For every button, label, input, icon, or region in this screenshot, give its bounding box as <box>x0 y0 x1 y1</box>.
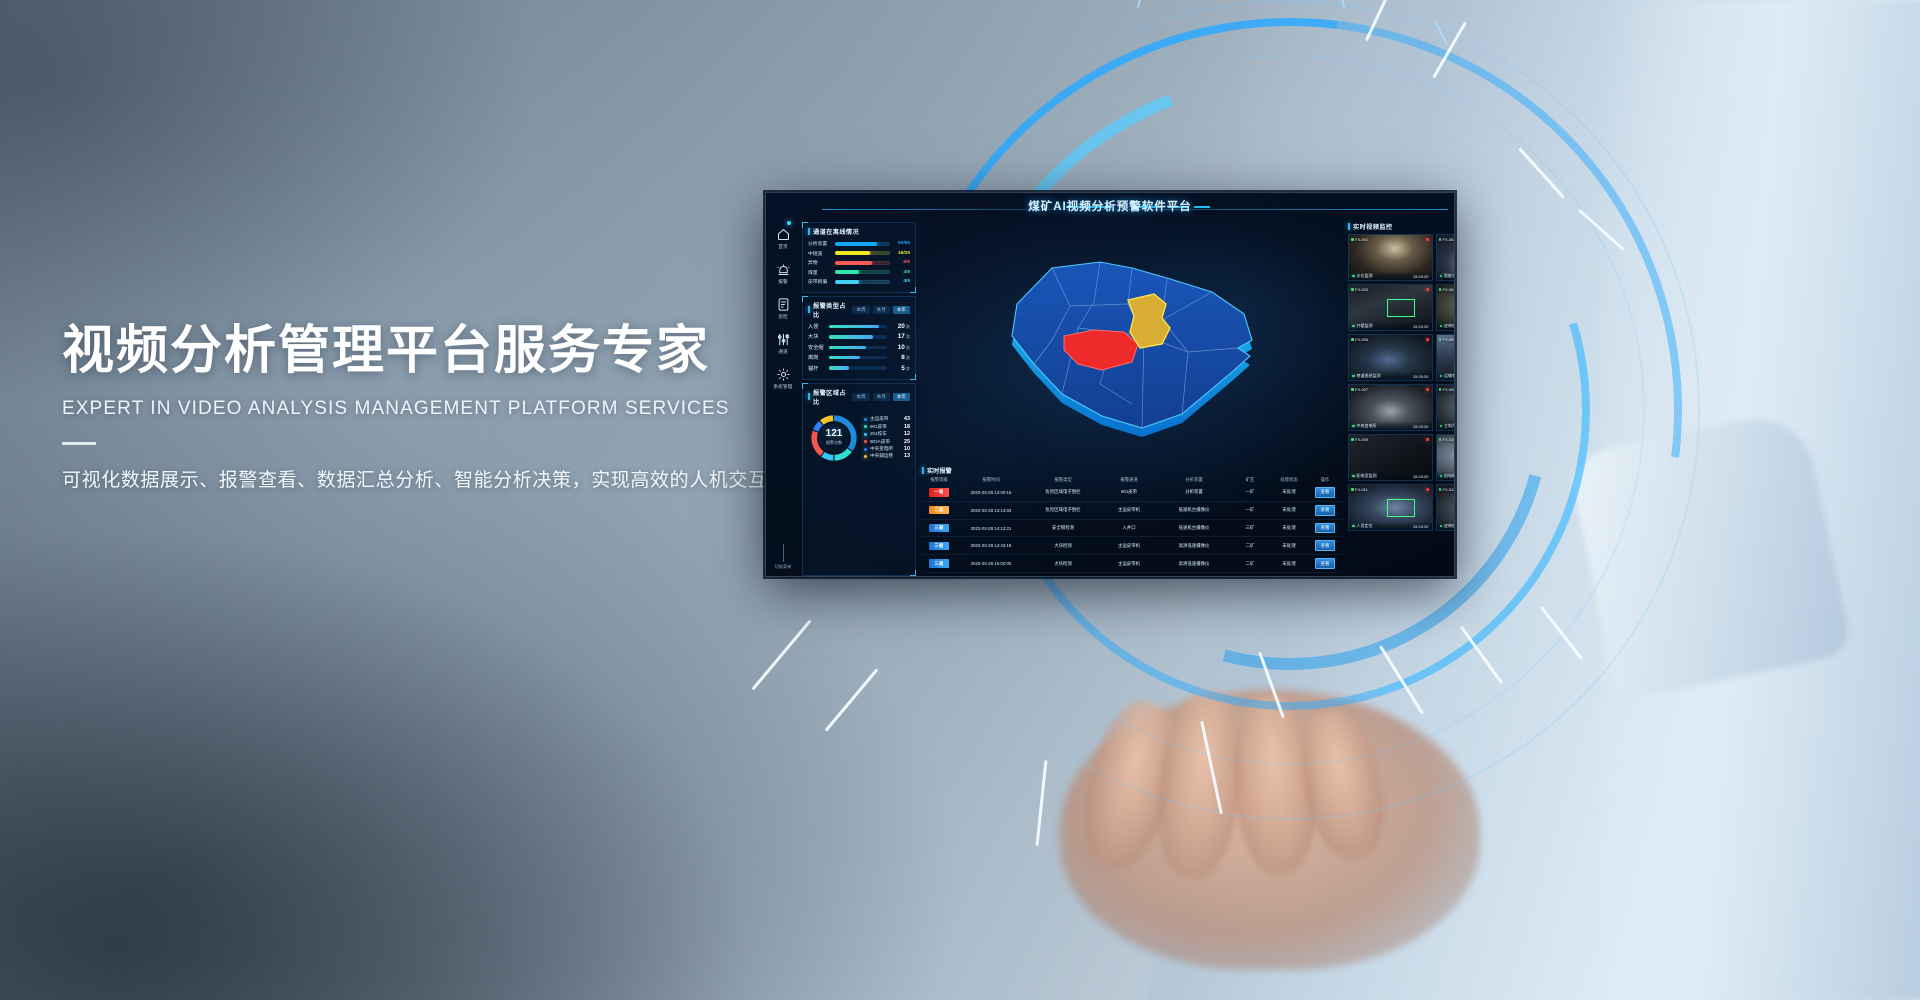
table-row[interactable]: 三级2023-03-28 15:00:00大块检测主运皮带机高清低速摄像仪二矿未… <box>922 555 1342 573</box>
channel-row-label: 煤量 <box>808 269 832 276</box>
video-cell[interactable]: FX-001水仓监测15:20:30 <box>1348 234 1433 281</box>
alarm-type-value: 17次 <box>890 333 910 340</box>
channel-panel-title: 通道在离线情况 <box>808 227 859 236</box>
alarm-type-panel-header: 报警类型占比 本周本月本年 <box>808 301 910 319</box>
legend-color-dot <box>864 433 867 436</box>
alarm-type-row: 锚杆5次 <box>808 365 910 372</box>
video-info-bar: 井楼监测15:20:30 <box>1349 322 1432 330</box>
alarm-action-cell: 查看 <box>1308 487 1342 498</box>
status-badge: 一级 <box>929 488 948 496</box>
legend-value: 13 <box>904 453 910 459</box>
channel-row-fill <box>835 251 870 255</box>
status-badge: 三级 <box>929 542 948 550</box>
dashboard-header: 煤矿AI视频分析预警软件平台 <box>766 193 1454 219</box>
status-badge: 三级 <box>929 524 948 532</box>
dashboard-body: 首页 报警 巡检 <box>766 219 1454 576</box>
channel-row-label: 中短波 <box>808 250 832 257</box>
alarm-channel-cell: 主运皮带机 <box>1100 507 1158 513</box>
alarm-type-label: 大块 <box>808 333 826 340</box>
video-name: 中央变电所 <box>1352 423 1377 429</box>
status-dot-icon <box>1352 275 1355 278</box>
legend-item: 901皮带18 <box>864 424 910 430</box>
alarm-time-cell: 2023-03-28 14:43:18 <box>956 543 1026 548</box>
alarm-time-cell: 2023-03-28 13:00:16 <box>956 490 1026 495</box>
channel-row: 异物6/9 <box>808 259 910 266</box>
alarm-type-cell: 危险区域电子围栏 <box>1026 507 1100 513</box>
alarm-mine-cell: 三矿 <box>1230 525 1270 531</box>
video-panel-title: 实时视频监控 <box>1348 222 1393 231</box>
channel-panel-header: 通道在离线情况 <box>808 227 910 236</box>
alarm-type-label: 入侵 <box>808 323 826 330</box>
alarm-type-value: 5次 <box>890 365 910 372</box>
status-dot-icon <box>1352 525 1355 528</box>
online-dot-icon <box>1351 438 1354 441</box>
online-dot-icon <box>1351 488 1354 491</box>
legend-item: 902A皮带25 <box>864 439 910 445</box>
alarm-type-title-text: 报警类型占比 <box>813 301 852 319</box>
tab-本年[interactable]: 本年 <box>893 306 910 314</box>
video-cell[interactable]: FX-006运输巷监测15:26:30 <box>1436 334 1456 381</box>
video-info-bar: 机电硐室15:26:30 <box>1437 472 1456 480</box>
alarm-level-cell: 三级 <box>922 524 956 532</box>
tab-本年[interactable]: 本年 <box>893 393 910 401</box>
alarm-action-cell: 查看 <box>1308 523 1342 534</box>
alarm-type-track <box>829 356 887 359</box>
alarm-type-fill <box>829 335 873 338</box>
channel-row-value: 16/25 <box>893 251 910 256</box>
channel-rows: 分析装置50/65中短波16/25异物6/9煤量4/9皮带跑偏4/9 <box>808 240 910 285</box>
video-cell[interactable]: FX-004皮带机监测15:26:30 <box>1436 284 1456 331</box>
online-dot-icon <box>1351 288 1354 291</box>
alarm-type-rows: 入侵20次大块17次安全帽10次离岗8次锚杆5次 <box>808 323 910 372</box>
alarm-type-cell: 大块检测 <box>1026 561 1100 567</box>
video-panel-header: 实时视频监控 上一页 下一页 <box>1348 222 1455 231</box>
video-timestamp: 15:20:30 <box>1413 424 1429 429</box>
alarm-table-header: 报警等级报警时间报警类型报警通道分析装置矿区处理状态操作 <box>922 477 1342 484</box>
legend-label: 201绞车 <box>870 431 901 437</box>
title-accent-bar <box>1348 223 1350 230</box>
video-info-bar: 皮带机监测15:26:30 <box>1437 322 1456 330</box>
channel-row-track <box>835 242 890 246</box>
alarm-column-header: 报警类型 <box>1026 477 1100 483</box>
video-name: 主斜井监测 <box>1440 423 1456 429</box>
dashboard-screen: 煤矿AI视频分析预警软件平台 首页 报警 <box>766 193 1454 576</box>
alarm-area-tabs: 本周本月本年 <box>852 393 910 401</box>
alarm-mine-cell: 二矿 <box>1230 561 1270 567</box>
alarm-status-cell: 未处理 <box>1270 489 1308 495</box>
video-grid: FX-001水仓监测15:20:30FX-002智能交通监控15:26:30FX… <box>1348 234 1455 531</box>
legend-item: 中央辅运巷13 <box>864 453 910 459</box>
online-dot-icon <box>1439 288 1442 291</box>
alarm-type-fill <box>829 356 860 359</box>
channel-online-panel: 通道在离线情况 分析装置50/65中短波16/25异物6/9煤量4/9皮带跑偏4… <box>802 222 916 293</box>
donut-center: 121 报警次数 <box>808 412 860 464</box>
video-info-bar: 人员定位15:20:30 <box>1349 522 1432 530</box>
alarm-area-panel-header: 报警区域占比 本周本月本年 <box>808 388 910 406</box>
channel-row-value: 50/65 <box>893 241 910 246</box>
alarm-type-label: 离岗 <box>808 354 826 361</box>
channel-row-track <box>835 251 890 255</box>
video-timestamp: 15:20:30 <box>1413 324 1429 329</box>
alarm-area-panel-title: 报警区域占比 <box>808 388 852 406</box>
alarm-column-header: 矿区 <box>1230 477 1270 483</box>
video-id-label: FX-003 <box>1351 287 1368 292</box>
channel-panel-title-text: 通道在离线情况 <box>813 227 859 236</box>
recording-indicator-icon <box>1426 338 1429 341</box>
video-name: 皮带机头 <box>1440 523 1456 529</box>
video-info-bar: 主斜井监测15:26:30 <box>1437 422 1456 430</box>
recording-indicator-icon <box>1426 388 1429 391</box>
channel-row: 中短波16/25 <box>808 250 910 257</box>
alarm-type-row: 离岗8次 <box>808 354 910 361</box>
legend-value: 18 <box>904 424 910 430</box>
sidebar-item-channel[interactable]: 通道 <box>776 332 791 355</box>
status-dot-icon <box>1440 525 1443 528</box>
legend-value: 10 <box>904 446 910 452</box>
video-cell[interactable]: FX-012皮带机头15:26:30 <box>1436 484 1456 531</box>
hero-text-block: 视频分析管理平台服务专家 EXPERT IN VIDEO ANALYSIS MA… <box>62 322 822 492</box>
tab-本月[interactable]: 本月 <box>873 393 890 401</box>
alarm-device-cell: 低速机台摄像仪 <box>1158 507 1230 513</box>
legend-label: 中央变电所 <box>870 446 901 452</box>
status-dot-icon <box>1440 475 1443 478</box>
view-button[interactable]: 查看 <box>1315 540 1336 551</box>
sidebar: 首页 报警 巡检 <box>766 219 800 576</box>
legend-color-dot <box>864 455 867 458</box>
hero-title: 视频分析管理平台服务专家 <box>62 322 822 382</box>
alarm-level-cell: 三级 <box>922 542 956 550</box>
donut-legend: 主运皮带43901皮带18201绞车12902A皮带25中央变电所10中央辅运巷… <box>864 416 910 459</box>
sidebar-label-channel: 通道 <box>778 349 788 355</box>
sidebar-status-dot <box>787 221 791 225</box>
video-id-label: FX-005 <box>1351 337 1368 342</box>
status-dot-icon <box>1440 325 1443 328</box>
online-dot-icon <box>1351 238 1354 241</box>
view-button[interactable]: 查看 <box>1315 558 1336 569</box>
status-badge: 二级 <box>929 506 948 514</box>
video-cell[interactable]: FX-008主斜井监测15:26:30 <box>1436 384 1456 431</box>
alarm-time-cell: 2023-03-28 15:00:00 <box>956 561 1026 566</box>
alarm-column-header: 报警等级 <box>922 477 956 483</box>
legend-label: 902A皮带 <box>870 439 901 445</box>
alarm-device-cell: 高清低速摄像仪 <box>1158 543 1230 549</box>
alarm-device-cell: 分析装置 <box>1158 489 1230 495</box>
video-name: 智能交通监控 <box>1440 273 1456 279</box>
view-button[interactable]: 查看 <box>1315 487 1336 498</box>
legend-color-dot <box>864 448 867 451</box>
channel-icon <box>776 332 791 347</box>
alarm-channel-cell: 主运皮带机 <box>1100 561 1158 567</box>
status-dot-icon <box>1352 425 1355 428</box>
video-name: 人员定位 <box>1352 523 1373 529</box>
status-dot-icon <box>1440 375 1443 378</box>
title-accent-bar <box>922 467 924 474</box>
status-dot-icon <box>1352 475 1355 478</box>
legend-label: 中央辅运巷 <box>870 453 901 459</box>
sidebar-label-home: 首页 <box>778 244 788 250</box>
donut-total-value: 121 <box>826 429 843 439</box>
channel-row-label: 分析装置 <box>808 240 832 247</box>
status-badge: 三级 <box>929 559 948 567</box>
video-cell[interactable]: FX-011人员定位15:20:30 <box>1348 484 1433 531</box>
video-timestamp: 15:20:30 <box>1413 474 1429 479</box>
channel-row-label: 皮带跑偏 <box>808 278 832 285</box>
alarm-mine-cell: 一矿 <box>1230 489 1270 495</box>
alarm-area-donut-chart: 121 报警次数 主运皮带43901皮带18201绞车12902A皮带25中央变… <box>808 410 910 464</box>
legend-item: 201绞车12 <box>864 431 910 437</box>
gear-icon <box>776 367 791 382</box>
region-map[interactable] <box>918 219 1346 464</box>
alarm-device-cell: 高清低速摄像仪 <box>1158 561 1230 567</box>
sidebar-collapse-bar <box>783 544 784 562</box>
legend-color-dot <box>864 440 867 443</box>
alarm-type-track <box>829 325 887 328</box>
sidebar-item-system[interactable]: 系统管理 <box>773 367 792 390</box>
channel-row-fill <box>835 280 859 284</box>
video-info-bar: 智能交通监控15:26:30 <box>1437 272 1456 280</box>
online-dot-icon <box>1351 388 1354 391</box>
alarm-mine-cell: 一矿 <box>1230 507 1270 513</box>
dashboard-monitor: 煤矿AI视频分析预警软件平台 首页 报警 <box>765 192 1455 577</box>
alarm-type-fill <box>829 366 849 369</box>
channel-row-value: 4/9 <box>893 279 910 284</box>
legend-value: 12 <box>904 431 910 437</box>
legend-item: 中央变电所10 <box>864 446 910 452</box>
table-row[interactable]: 三级2023-03-28 14:13:21安全帽检测入井口低速机台摄像仪三矿未处… <box>922 520 1342 538</box>
tab-本周[interactable]: 本周 <box>852 393 869 401</box>
hero-divider <box>62 442 96 445</box>
channel-row-track <box>835 261 890 265</box>
channel-row-value: 4/9 <box>893 270 910 275</box>
online-dot-icon <box>1439 388 1442 391</box>
alarm-column-header: 处理状态 <box>1270 477 1308 483</box>
title-accent-bar <box>808 306 810 313</box>
alarm-level-cell: 三级 <box>922 559 956 567</box>
video-name: 运输巷监测 <box>1440 373 1456 379</box>
channel-row: 煤量4/9 <box>808 269 910 276</box>
channel-row-label: 异物 <box>808 259 832 266</box>
alarm-type-panel-title: 报警类型占比 <box>808 301 852 319</box>
alarm-action-cell: 查看 <box>1308 505 1342 516</box>
donut-graphic: 121 报警次数 <box>808 412 860 464</box>
recording-indicator-icon <box>1426 238 1429 241</box>
alarm-level-cell: 二级 <box>922 506 956 514</box>
legend-color-dot <box>864 418 867 421</box>
channel-row-fill <box>835 242 877 246</box>
sidebar-footer-label: 切换菜单 <box>766 564 800 570</box>
status-dot-icon <box>1352 375 1355 378</box>
sidebar-item-inspection[interactable]: 巡检 <box>776 297 791 320</box>
alarm-status-cell: 未处理 <box>1270 525 1308 531</box>
video-info-bar: 巷道掘进监测15:20:30 <box>1349 372 1432 380</box>
channel-row-value: 6/9 <box>893 260 910 265</box>
video-id-label: FX-007 <box>1351 387 1368 392</box>
view-button[interactable]: 查看 <box>1315 523 1336 534</box>
legend-value: 25 <box>904 439 910 445</box>
status-dot-icon <box>1440 275 1443 278</box>
video-cell[interactable]: FX-003井楼监测15:20:30 <box>1348 284 1433 331</box>
recording-indicator-icon <box>1426 288 1429 291</box>
video-cell[interactable]: FX-007中央变电所15:20:30 <box>1348 384 1433 431</box>
alarm-type-cell: 大块检测 <box>1026 543 1100 549</box>
online-dot-icon <box>1439 338 1442 341</box>
realtime-alarm-title-text: 实时报警 <box>927 466 952 475</box>
video-id-label: FX-006 <box>1439 337 1456 342</box>
realtime-alarm-title: 实时报警 <box>922 466 1342 475</box>
alarm-action-cell: 查看 <box>1308 540 1342 551</box>
video-name: 井楼监测 <box>1352 323 1373 329</box>
alarm-type-track <box>829 366 887 369</box>
alarm-type-cell: 安全帽检测 <box>1026 525 1100 531</box>
video-panel-title-text: 实时视频监控 <box>1353 222 1393 231</box>
video-cell[interactable]: FX-010机电硐室15:26:30 <box>1436 434 1456 481</box>
alarm-type-value: 20次 <box>890 323 910 330</box>
alarm-type-row: 入侵20次 <box>808 323 910 330</box>
donut-total-caption: 报警次数 <box>826 440 842 446</box>
video-id-label: FX-010 <box>1439 437 1456 442</box>
inspection-icon <box>776 297 791 312</box>
online-dot-icon <box>1439 488 1442 491</box>
sidebar-label-alarm: 报警 <box>778 279 788 285</box>
alarm-area-panel: 报警区域占比 本周本月本年 121 报警次数 主运皮带43901皮带1820 <box>802 383 916 576</box>
video-info-bar: 中央变电所15:20:30 <box>1349 422 1432 430</box>
recording-indicator-icon <box>1426 488 1429 491</box>
sidebar-item-home[interactable]: 首页 <box>776 227 791 250</box>
video-id-label: FX-012 <box>1439 487 1456 492</box>
sidebar-label-system: 系统管理 <box>773 384 792 390</box>
video-cell[interactable]: FX-002智能交通监控15:26:30 <box>1436 234 1456 281</box>
video-name: 水仓监测 <box>1352 273 1373 279</box>
online-dot-icon <box>1439 238 1442 241</box>
alarm-column-header: 报警时间 <box>956 477 1026 483</box>
view-button[interactable]: 查看 <box>1315 505 1336 516</box>
legend-color-dot <box>864 425 867 428</box>
title-accent-bar <box>808 228 810 235</box>
video-id-label: FX-001 <box>1351 237 1368 242</box>
center-column: 实时报警 报警等级报警时间报警类型报警通道分析装置矿区处理状态操作一级2023-… <box>918 219 1346 576</box>
alarm-channel-cell: 901皮带 <box>1100 489 1158 495</box>
alarm-type-track <box>829 346 887 349</box>
title-accent-bar <box>808 393 810 400</box>
alarm-column-header: 操作 <box>1308 477 1342 483</box>
right-column: 实时视频监控 上一页 下一页 FX-001水仓监测15:20:30FX-002智… <box>1346 219 1455 576</box>
tab-本月[interactable]: 本月 <box>873 306 890 314</box>
alarm-mine-cell: 二矿 <box>1230 543 1270 549</box>
alarm-status-cell: 未处理 <box>1270 543 1308 549</box>
status-dot-icon <box>1352 325 1355 328</box>
alarm-level-cell: 一级 <box>922 488 956 496</box>
channel-row: 皮带跑偏4/9 <box>808 278 910 285</box>
video-info-bar: 皮带机头15:26:30 <box>1437 522 1456 530</box>
alarm-column-header: 分析装置 <box>1158 477 1230 483</box>
alarm-status-cell: 未处理 <box>1270 561 1308 567</box>
table-row[interactable]: 一级2023-03-28 13:00:16危险区域电子围栏901皮带分析装置一矿… <box>922 484 1342 502</box>
alarm-type-label: 锚杆 <box>808 365 826 372</box>
alarm-icon <box>776 262 791 277</box>
video-id-label: FX-002 <box>1439 237 1456 242</box>
table-row[interactable]: 三级2023-03-28 14:43:18大块检测主运皮带机高清低速摄像仪二矿未… <box>922 537 1342 555</box>
hero-description: 可视化数据展示、报警查看、数据汇总分析、智能分析决策，实现高效的人机交互 <box>62 465 822 492</box>
region-map-svg <box>982 244 1282 439</box>
detection-box <box>1387 499 1415 518</box>
alarm-time-cell: 2023-03-28 14:13:21 <box>956 526 1026 531</box>
video-cell[interactable]: FX-005巷道掘进监测15:20:30 <box>1348 334 1433 381</box>
channel-row: 分析装置50/65 <box>808 240 910 247</box>
alarm-type-fill <box>829 325 879 328</box>
alarm-type-row: 大块17次 <box>808 333 910 340</box>
alarm-type-track <box>829 335 887 338</box>
status-dot-icon <box>1440 425 1443 428</box>
channel-row-fill <box>835 270 859 274</box>
channel-row-track <box>835 270 890 274</box>
video-timestamp: 15:20:30 <box>1413 524 1429 529</box>
video-id-label: FX-008 <box>1439 387 1456 392</box>
sidebar-footer[interactable]: 切换菜单 <box>766 544 800 570</box>
alarm-column-header: 报警通道 <box>1100 477 1158 483</box>
alarm-area-title-text: 报警区域占比 <box>813 388 852 406</box>
sidebar-label-inspection: 巡检 <box>778 314 788 320</box>
alarm-type-fill <box>829 346 866 349</box>
hero-subtitle: EXPERT IN VIDEO ANALYSIS MANAGEMENT PLAT… <box>62 398 822 420</box>
alarm-type-label: 安全帽 <box>808 344 826 351</box>
legend-item: 主运皮带43 <box>864 416 910 422</box>
video-name: 皮带机监测 <box>1440 323 1456 329</box>
channel-row-track <box>835 280 890 284</box>
alarm-type-value: 10次 <box>890 344 910 351</box>
legend-label: 主运皮带 <box>870 416 901 422</box>
dashboard-title: 煤矿AI视频分析预警软件平台 <box>766 198 1454 214</box>
alarm-time-cell: 2023-03-28 13:14:03 <box>956 508 1026 513</box>
video-timestamp: 15:20:30 <box>1413 374 1429 379</box>
video-info-bar: 水仓监测15:20:30 <box>1349 272 1432 280</box>
alarm-channel-cell: 主运皮带机 <box>1100 543 1158 549</box>
alarm-type-cell: 危险区域电子围栏 <box>1026 489 1100 495</box>
alarm-table: 报警等级报警时间报警类型报警通道分析装置矿区处理状态操作一级2023-03-28… <box>922 477 1342 573</box>
video-cell[interactable]: FX-009配电室监测15:20:30 <box>1348 434 1433 481</box>
recording-indicator-icon <box>1426 438 1429 441</box>
online-dot-icon <box>1439 438 1442 441</box>
channel-row-fill <box>835 261 872 265</box>
alarm-type-row: 安全帽10次 <box>808 344 910 351</box>
detection-box <box>1387 299 1415 318</box>
alarm-action-cell: 查看 <box>1308 558 1342 569</box>
video-name: 机电硐室 <box>1440 473 1456 479</box>
tab-本周[interactable]: 本周 <box>852 306 869 314</box>
video-name: 配电室监测 <box>1352 473 1377 479</box>
legend-label: 901皮带 <box>870 424 901 430</box>
video-id-label: FX-011 <box>1351 487 1368 492</box>
sidebar-item-alarm[interactable]: 报警 <box>776 262 791 285</box>
left-column: 通道在离线情况 分析装置50/65中短波16/25异物6/9煤量4/9皮带跑偏4… <box>800 219 918 576</box>
video-info-bar: 配电室监测15:20:30 <box>1349 472 1432 480</box>
video-id-label: FX-004 <box>1439 287 1456 292</box>
alarm-type-value: 8次 <box>890 354 910 361</box>
alarm-type-tabs: 本周本月本年 <box>852 306 910 314</box>
realtime-alarm-panel: 实时报警 报警等级报警时间报警类型报警通道分析装置矿区处理状态操作一级2023-… <box>918 464 1346 576</box>
online-dot-icon <box>1351 338 1354 341</box>
alarm-type-panel: 报警类型占比 本周本月本年 入侵20次大块17次安全帽10次离岗8次锚杆5次 <box>802 296 916 380</box>
alarm-channel-cell: 入井口 <box>1100 525 1158 531</box>
video-id-label: FX-009 <box>1351 437 1368 442</box>
legend-value: 43 <box>904 416 910 422</box>
home-icon <box>776 227 791 242</box>
alarm-status-cell: 未处理 <box>1270 507 1308 513</box>
table-row[interactable]: 二级2023-03-28 13:14:03危险区域电子围栏主运皮带机低速机台摄像… <box>922 502 1342 520</box>
video-info-bar: 运输巷监测15:26:30 <box>1437 372 1456 380</box>
alarm-device-cell: 低速机台摄像仪 <box>1158 525 1230 531</box>
video-timestamp: 15:20:30 <box>1413 274 1429 279</box>
video-name: 巷道掘进监测 <box>1352 373 1381 379</box>
